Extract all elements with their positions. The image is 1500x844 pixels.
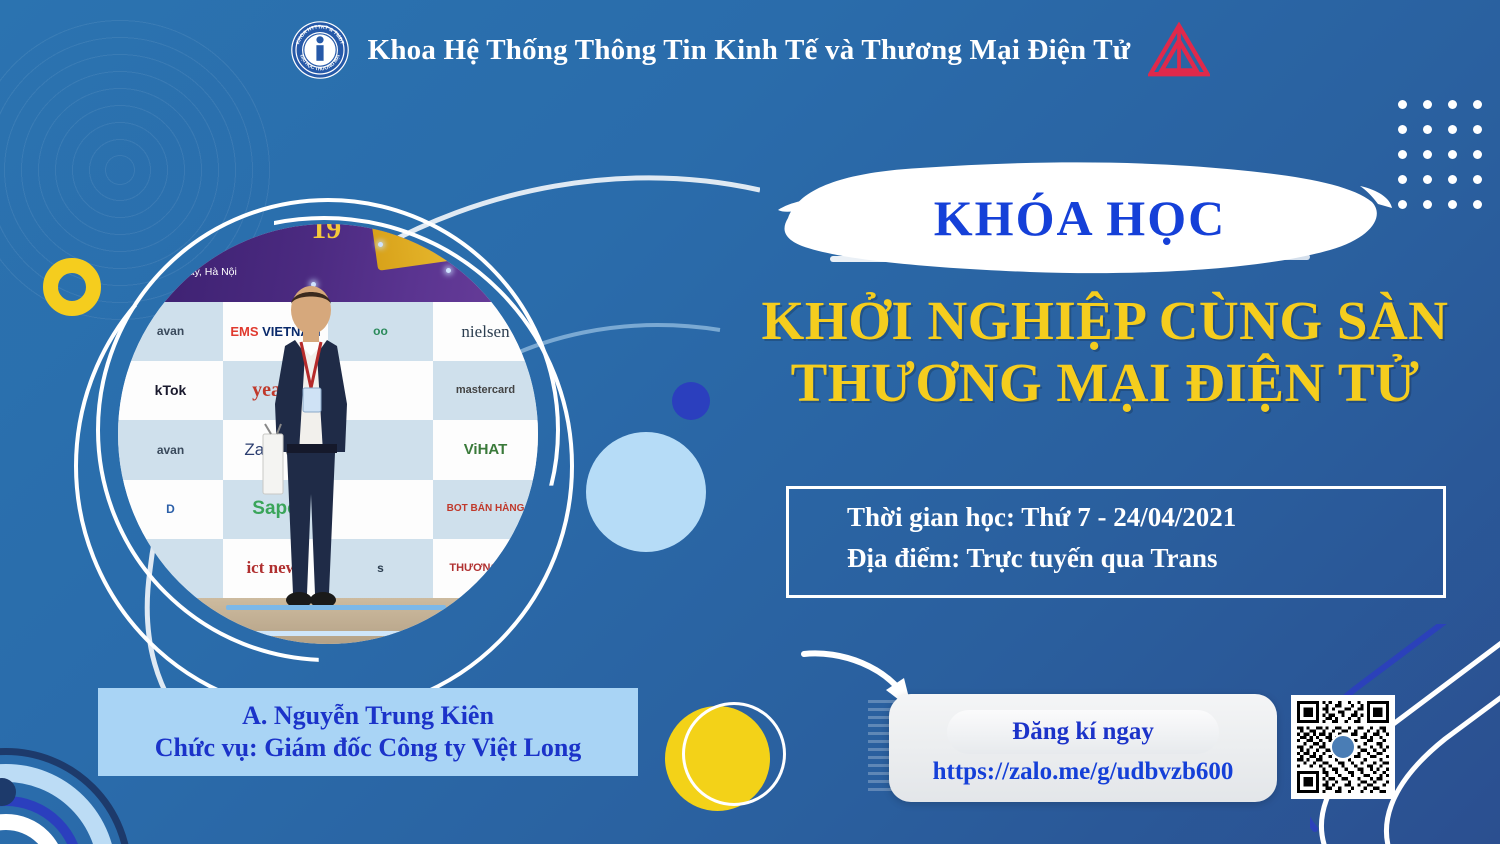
speaker-name: A. Nguyễn Trung Kiên bbox=[242, 701, 494, 731]
blue-dot-decoration bbox=[672, 382, 710, 420]
dot-grid-decoration bbox=[1398, 100, 1482, 209]
zalo-qr-code[interactable] bbox=[1291, 695, 1395, 799]
speaker-role: Chức vụ: Giám đốc Công ty Việt Long bbox=[155, 733, 582, 763]
photo-underline-1 bbox=[226, 605, 446, 610]
yellow-circle-outline-decoration bbox=[682, 702, 786, 806]
event-info-box: Thời gian học: Thứ 7 - 24/04/2021 Địa đi… bbox=[786, 486, 1446, 598]
register-button[interactable]: Đăng kí ngay bbox=[947, 710, 1219, 754]
main-title-line-2: THƯƠNG MẠI ĐIỆN TỬ bbox=[720, 352, 1490, 414]
header-title: Khoa Hệ Thống Thông Tin Kinh Tế và Thươn… bbox=[368, 34, 1131, 67]
light-blue-circle-decoration bbox=[586, 432, 706, 552]
register-panel[interactable]: Đăng kí ngay https://zalo.me/g/udbvzb600 bbox=[889, 694, 1277, 802]
penrose-triangle-logo bbox=[1148, 22, 1210, 78]
qr-center-logo bbox=[1330, 734, 1356, 760]
photo-underline-2 bbox=[158, 631, 488, 636]
course-badge-label: KHÓA HỌC bbox=[760, 178, 1400, 258]
banner-date: .10.2020 bbox=[136, 250, 179, 262]
main-title: KHỞI NGHIỆP CÙNG SÀN THƯƠNG MẠI ĐIỆN TỬ bbox=[720, 290, 1490, 413]
event-location: Địa điểm: Trực tuyến qua Trans bbox=[789, 543, 1443, 574]
banner-address: Sắc, Cầu Giấy, Hà Nội bbox=[132, 266, 237, 278]
main-title-line-1: KHỞI NGHIỆP CÙNG SÀN bbox=[720, 290, 1490, 352]
register-url[interactable]: https://zalo.me/g/udbvzb600 bbox=[933, 758, 1234, 786]
university-seal-logo: KHOA HTTTKT & TMĐT ĐẠI HỌC THƯƠNG MẠI bbox=[290, 20, 350, 80]
event-time: Thời gian học: Thứ 7 - 24/04/2021 bbox=[789, 502, 1443, 533]
speaker-photo: 19 .10.2020 Sắc, Cầu Giấy, Hà Nội avan E… bbox=[118, 224, 538, 644]
header-bar: KHOA HTTTKT & TMĐT ĐẠI HỌC THƯƠNG MẠI Kh… bbox=[0, 0, 1500, 100]
person-figure bbox=[251, 284, 371, 614]
speaker-name-plate: A. Nguyễn Trung Kiên Chức vụ: Giám đốc C… bbox=[98, 688, 638, 776]
banner-number: 19 bbox=[311, 224, 341, 246]
poster-canvas: KHOA HTTTKT & TMĐT ĐẠI HỌC THƯƠNG MẠI Kh… bbox=[0, 0, 1500, 844]
speaker-photo-block: 19 .10.2020 Sắc, Cầu Giấy, Hà Nội avan E… bbox=[118, 224, 538, 644]
